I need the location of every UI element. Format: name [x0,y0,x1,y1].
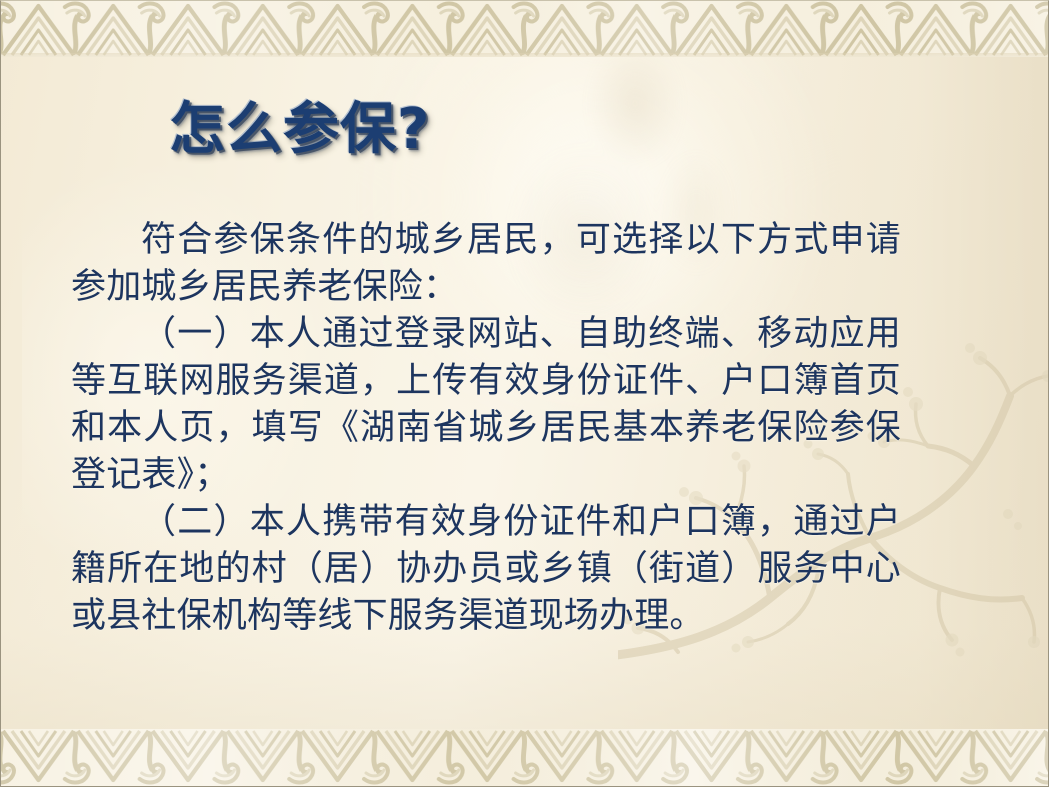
slide-content: 怎么参保? 符合参保条件的城乡居民，可选择以下方式申请参加城乡居民养老保险： （… [1,1,1048,786]
body-paragraph-option-one: （一）本人通过登录网站、自助终端、移动应用等互联网服务渠道，上传有效身份证件、户… [71,310,901,498]
slide-title: 怎么参保? [169,102,430,158]
presentation-slide: 怎么参保? 符合参保条件的城乡居民，可选择以下方式申请参加城乡居民养老保险： （… [0,0,1049,787]
slide-body: 符合参保条件的城乡居民，可选择以下方式申请参加城乡居民养老保险： （一）本人通过… [71,216,901,639]
body-paragraph-intro: 符合参保条件的城乡居民，可选择以下方式申请参加城乡居民养老保险： [71,216,901,310]
body-paragraph-option-two: （二）本人携带有效身份证件和户口簿，通过户籍所在地的村（居）协办员或乡镇（街道）… [71,498,901,639]
